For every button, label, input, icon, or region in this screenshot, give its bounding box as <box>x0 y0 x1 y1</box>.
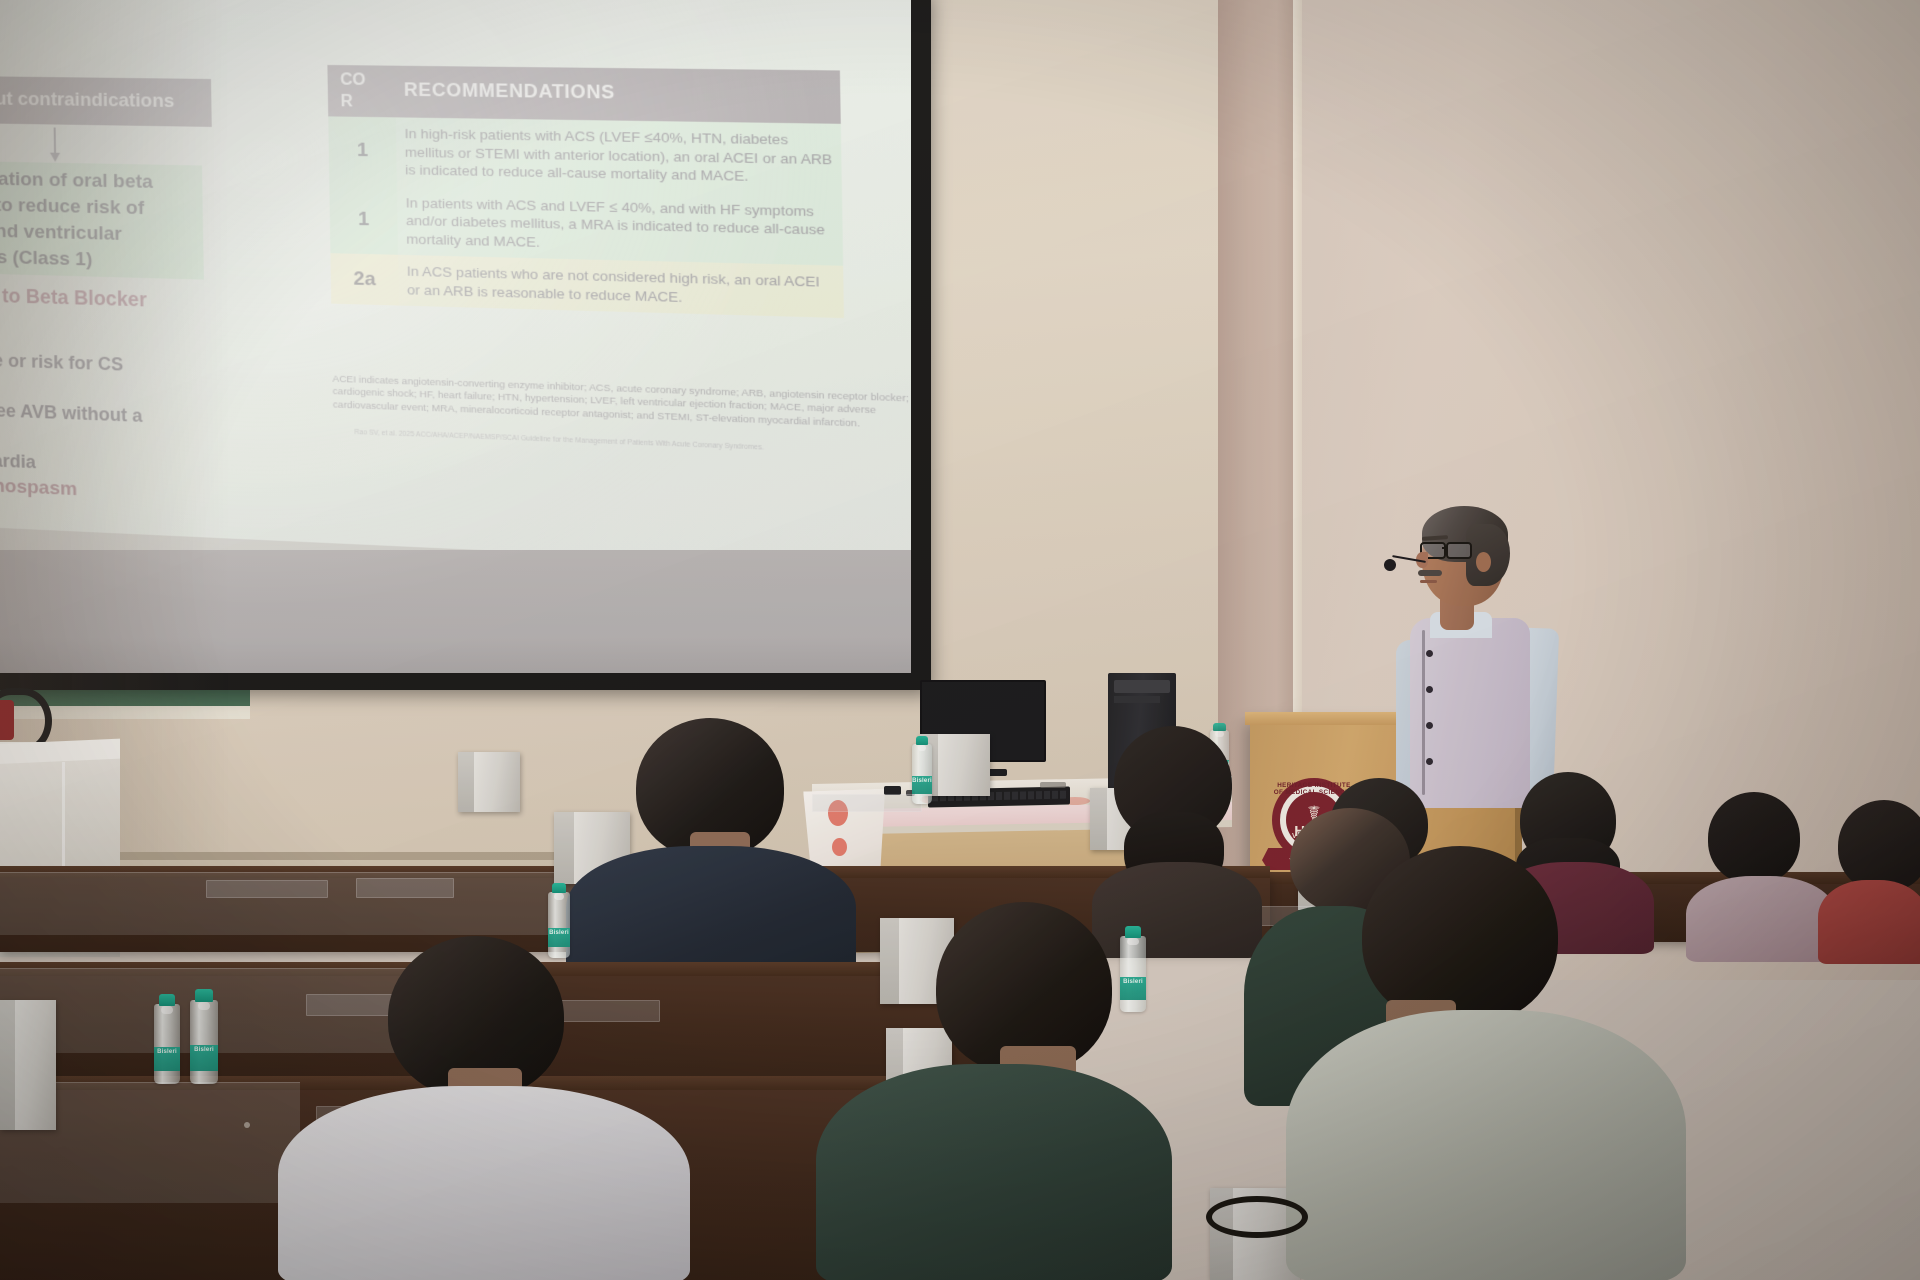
attendee-top <box>1686 876 1836 962</box>
speaker-vest-placket <box>1422 630 1425 795</box>
speaker-nehru-vest <box>1410 618 1530 808</box>
tower-drive-bay <box>1114 696 1160 703</box>
row-cor-cell: 1 <box>329 185 398 255</box>
recommendations-table-header: CO R RECOMMENDATIONS <box>327 65 840 124</box>
bottle-label: Bisleri <box>912 776 932 794</box>
speaker-ear <box>1476 552 1491 572</box>
bottle-cap <box>1213 723 1225 731</box>
attendee-red-scarf <box>1818 880 1920 964</box>
row-text-cell: In high-risk patients with ACS (LVEF ≤40… <box>396 117 842 194</box>
table-row: 1 In high-risk patients with ACS (LVEF ≤… <box>328 116 842 194</box>
water-bottle[interactable]: Bisleri <box>154 1004 180 1084</box>
water-bottle[interactable]: Bisleri <box>548 892 570 958</box>
bench-nameplate-slot <box>356 878 454 898</box>
bottle-cap <box>159 994 176 1006</box>
bench-nameplate-slot <box>812 794 922 812</box>
bench-nameplate-slot <box>206 880 328 898</box>
row-cor-cell: 1 <box>328 116 397 186</box>
col-header-cor: CO R <box>340 69 396 113</box>
bottle-cap <box>1125 926 1142 937</box>
row-text-cell: In ACS patients who are not considered h… <box>398 255 844 318</box>
attendee-hair <box>1362 846 1558 1026</box>
col-header-recommendations: RECOMMENDATIONS <box>404 79 615 104</box>
bottle-label: Bisleri <box>190 1045 218 1070</box>
speaker-vest-button <box>1426 650 1433 657</box>
bottle-cap <box>552 883 566 893</box>
attendee-hair <box>1708 792 1800 884</box>
desk-paper <box>1040 782 1066 788</box>
speaker-mouth <box>1420 580 1437 583</box>
attendee-green-shirt <box>816 1064 1172 1280</box>
attendee-hair <box>1838 800 1920 892</box>
speaker-at-podium <box>1378 500 1578 800</box>
row-cor-cell: 2a <box>330 253 398 305</box>
bag-handle <box>1206 1196 1308 1238</box>
bottle-label: Bisleri <box>548 928 570 948</box>
table-citation: Rao SV, et al. 2025 ACC/AHA/ACEP/NAEMSP/… <box>354 428 857 456</box>
water-bottle[interactable]: Bisleri <box>912 744 932 804</box>
bottle-label: Bisleri <box>154 1047 180 1071</box>
bench-divider <box>458 752 520 812</box>
bottle-cap <box>195 989 213 1002</box>
attendee-floral-kurta <box>1092 862 1262 958</box>
row-text-cell: In patients with ACS and LVEF ≤ 40%, and… <box>397 186 843 266</box>
speaker-vest-button <box>1426 722 1433 729</box>
speaker-mustache <box>1418 570 1442 576</box>
bottle-cap <box>916 736 929 745</box>
table-footnote: ACEI indicates angiotensin-converting en… <box>332 374 911 435</box>
water-bottle[interactable]: Bisleri <box>190 1000 218 1084</box>
speaker-vest-button <box>1426 758 1433 765</box>
attendee-white-shirt <box>278 1086 690 1280</box>
tower-drive-bay <box>1114 680 1170 693</box>
bench-divider <box>0 1000 56 1130</box>
chair-cushion <box>0 700 14 740</box>
speaker-vest-button <box>1426 686 1433 693</box>
tablecloth-motif <box>832 838 847 856</box>
headset-microphone-capsule <box>1384 559 1396 571</box>
recommendations-table: CO R RECOMMENDATIONS 1 In high-risk pati… <box>327 65 844 318</box>
eyeglasses-icon <box>1420 542 1476 557</box>
bottle-label: Bisleri <box>1120 977 1146 1000</box>
attendee-grey-shirt <box>1286 1010 1686 1280</box>
water-bottle[interactable]: Bisleri <box>1120 936 1146 1012</box>
table-row: 1 In patients with ACS and LVEF ≤ 40%, a… <box>329 185 843 266</box>
lecture-hall-photo: n inhibitors m Angiotensin nts without c… <box>0 0 1920 1280</box>
